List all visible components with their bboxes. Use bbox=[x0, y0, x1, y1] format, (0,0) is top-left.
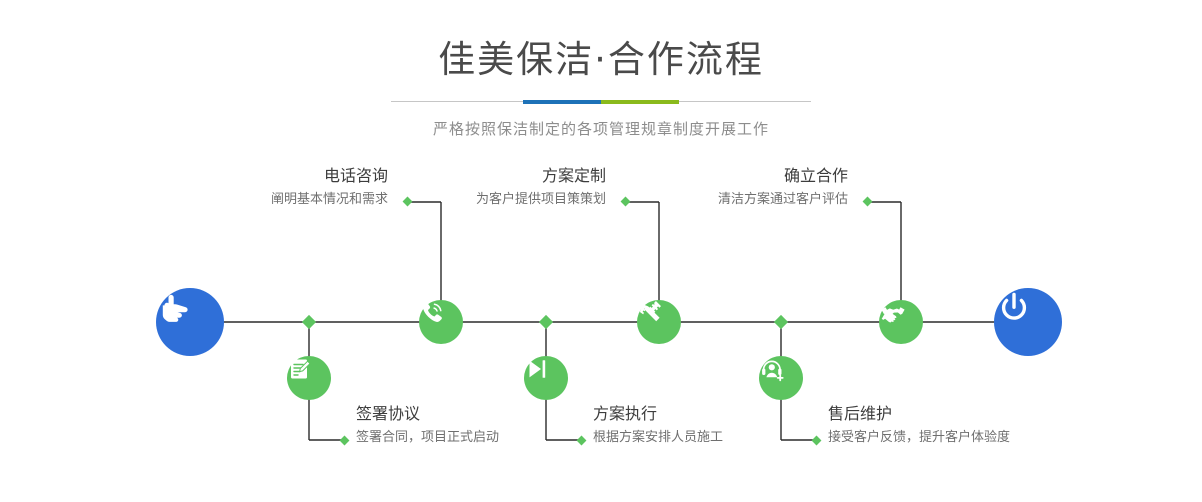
step-title: 电话咨询 bbox=[271, 166, 388, 186]
step-desc: 阐明基本情况和需求 bbox=[271, 190, 388, 210]
step-desc: 接受客户反馈，提升客户体验度 bbox=[828, 428, 1010, 448]
play-execute-icon bbox=[524, 356, 550, 382]
step-node-establish-cooperation[interactable] bbox=[879, 300, 923, 344]
power-button-icon bbox=[994, 288, 1034, 328]
step-title: 确立合作 bbox=[718, 166, 848, 186]
step-label-establish-cooperation: 确立合作 清洁方案通过客户评估 bbox=[718, 166, 848, 210]
step-label-plan-execution: 方案执行 根据方案安排人员施工 bbox=[593, 404, 723, 448]
step-desc: 为客户提供项目策策划 bbox=[476, 190, 606, 210]
step-node-after-sales-maintenance[interactable] bbox=[759, 356, 803, 400]
step-node-plan-execution[interactable] bbox=[524, 356, 568, 400]
step-label-sign-agreement: 签署协议 签署合同，项目正式启动 bbox=[356, 404, 499, 448]
page-subtitle: 严格按照保洁制定的各项管理规章制度开展工作 bbox=[0, 118, 1202, 139]
support-agent-add-icon bbox=[759, 356, 786, 383]
handshake-icon bbox=[879, 300, 907, 328]
step-label-plan-customization: 方案定制 为客户提供项目策策划 bbox=[476, 166, 606, 210]
step-label-phone-consultation: 电话咨询 阐明基本情况和需求 bbox=[271, 166, 388, 210]
step-title: 方案定制 bbox=[476, 166, 606, 186]
pointing-hand-icon bbox=[156, 288, 196, 328]
step-title: 签署协议 bbox=[356, 404, 499, 424]
step-desc: 清洁方案通过客户评估 bbox=[718, 190, 848, 210]
step-node-plan-customization[interactable] bbox=[637, 300, 681, 344]
divider-green-segment bbox=[601, 100, 679, 104]
step-node-phone-consultation[interactable] bbox=[419, 300, 463, 344]
header: 佳美保洁·合作流程 严格按照保洁制定的各项管理规章制度开展工作 bbox=[0, 0, 1202, 139]
step-label-after-sales-maintenance: 售后维护 接受客户反馈，提升客户体验度 bbox=[828, 404, 1010, 448]
document-edit-icon bbox=[287, 356, 313, 382]
step-title: 方案执行 bbox=[593, 404, 723, 424]
flow-infographic-page: 佳美保洁·合作流程 严格按照保洁制定的各项管理规章制度开展工作 bbox=[0, 0, 1202, 502]
process-flow-diagram: 电话咨询 阐明基本情况和需求 签署协议 签署合同，项目正式启动 bbox=[0, 150, 1202, 502]
step-node-sign-agreement[interactable] bbox=[287, 356, 331, 400]
step-desc: 根据方案安排人员施工 bbox=[593, 428, 723, 448]
step-title: 售后维护 bbox=[828, 404, 1010, 424]
flow-end-node[interactable] bbox=[994, 288, 1062, 356]
pencil-ruler-icon bbox=[637, 300, 663, 326]
page-title: 佳美保洁·合作流程 bbox=[0, 0, 1202, 82]
phone-call-icon bbox=[419, 300, 445, 326]
divider-blue-segment bbox=[523, 100, 601, 104]
flow-start-node[interactable] bbox=[156, 288, 224, 356]
title-divider bbox=[391, 100, 811, 104]
step-desc: 签署合同，项目正式启动 bbox=[356, 428, 499, 448]
